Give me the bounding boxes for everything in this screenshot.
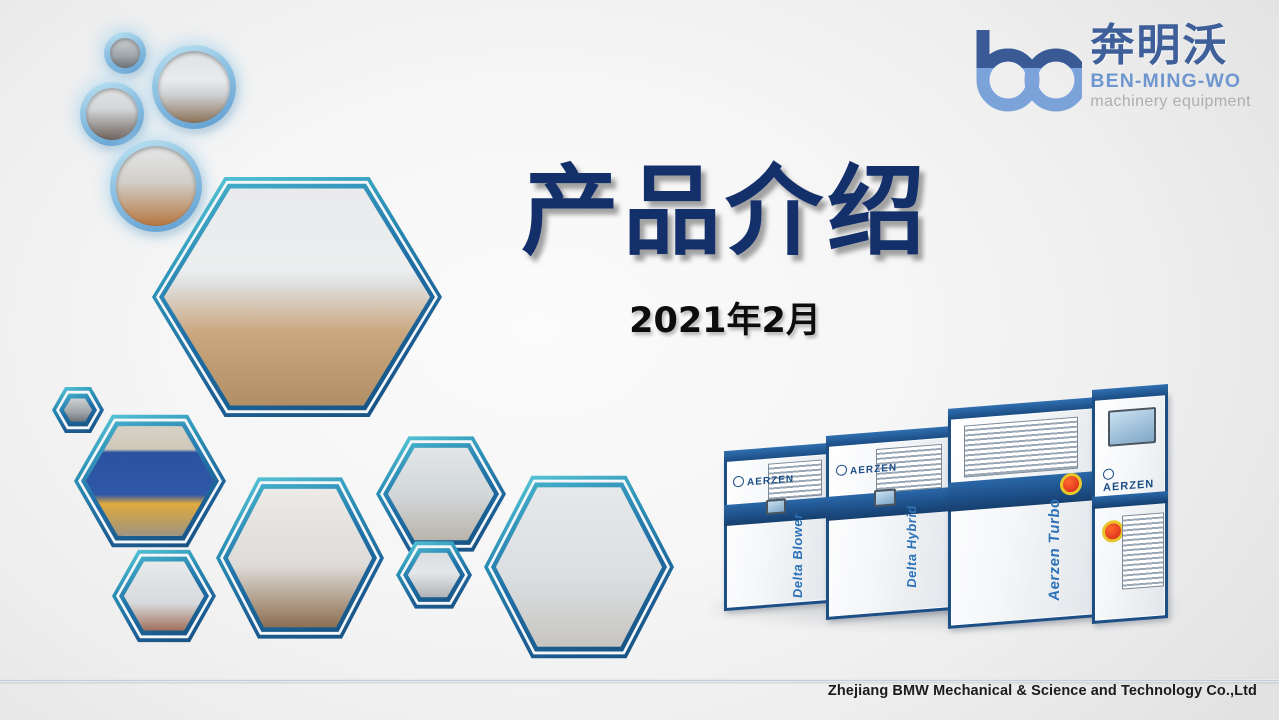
circle-photo-equipment-image [110,38,140,68]
footer-company-name: Zhejiang BMW Mechanical & Science and Te… [828,683,1257,699]
machine-louver [964,417,1078,478]
hex-photo-reception-image [164,184,430,410]
page-subtitle: 2021年2月 [470,292,980,343]
machine-unit-delta-blower: AERZEN Delta Blower [724,451,830,611]
machine-label-delta-hybrid: Delta Hybrid [904,505,919,589]
logo-tagline: machinery equipment [1090,94,1251,110]
machine-control-panel-screen[interactable] [1108,407,1156,447]
machine-label-delta-blower: Delta Blower [790,513,805,599]
machine-unit-aerzen-turbo: Aerzen Turbo [948,405,1096,629]
hex-photo-entrance-fu [216,474,384,642]
page-title: 产品介绍 [470,160,980,266]
logo-text-block: 奔明沃 BEN-MING-WO machinery equipment [1090,24,1251,110]
hex-photo-open-office [484,472,674,662]
hex-photo-equipment-room [52,386,104,434]
logo-pinyin: BEN-MING-WO [1090,72,1251,92]
machine-hmi-screen[interactable] [874,488,896,507]
logo-chinese-name: 奔明沃 [1090,24,1251,68]
hex-photo-white-corridor [112,548,216,644]
hex-photo-blue-corridor [74,412,226,550]
company-logo: 奔明沃 BEN-MING-WO machinery equipment [970,24,1251,112]
bo-logo-icon [970,24,1082,112]
title-block: 产品介绍 2021年2月 [470,160,980,343]
product-machines-illustration: AERZEN Delta Blower AERZEN Delta Hybrid … [700,385,1200,660]
slide-root: 产品介绍 2021年2月 [0,0,1279,720]
machine-unit-delta-hybrid: AERZEN Delta Hybrid [826,434,952,620]
machine-hmi-screen[interactable] [766,498,786,515]
machine-label-aerzen-turbo: Aerzen Turbo [1046,498,1063,602]
circle-photo-office [152,45,236,129]
circle-photo-meeting [80,82,144,146]
circle-photo-training [110,140,202,232]
circle-photo-training-image [116,146,196,226]
circle-photo-meeting-image [86,88,138,140]
machine-brand-label: AERZEN [1103,464,1168,494]
circle-photo-office-image [158,51,230,123]
machine-control-cabinet: AERZEN [1092,392,1168,624]
circle-photo-equipment [104,32,146,74]
footer-divider [0,679,1279,682]
machine-louver [1122,512,1164,589]
hex-photo-glass-hallway [376,434,506,554]
